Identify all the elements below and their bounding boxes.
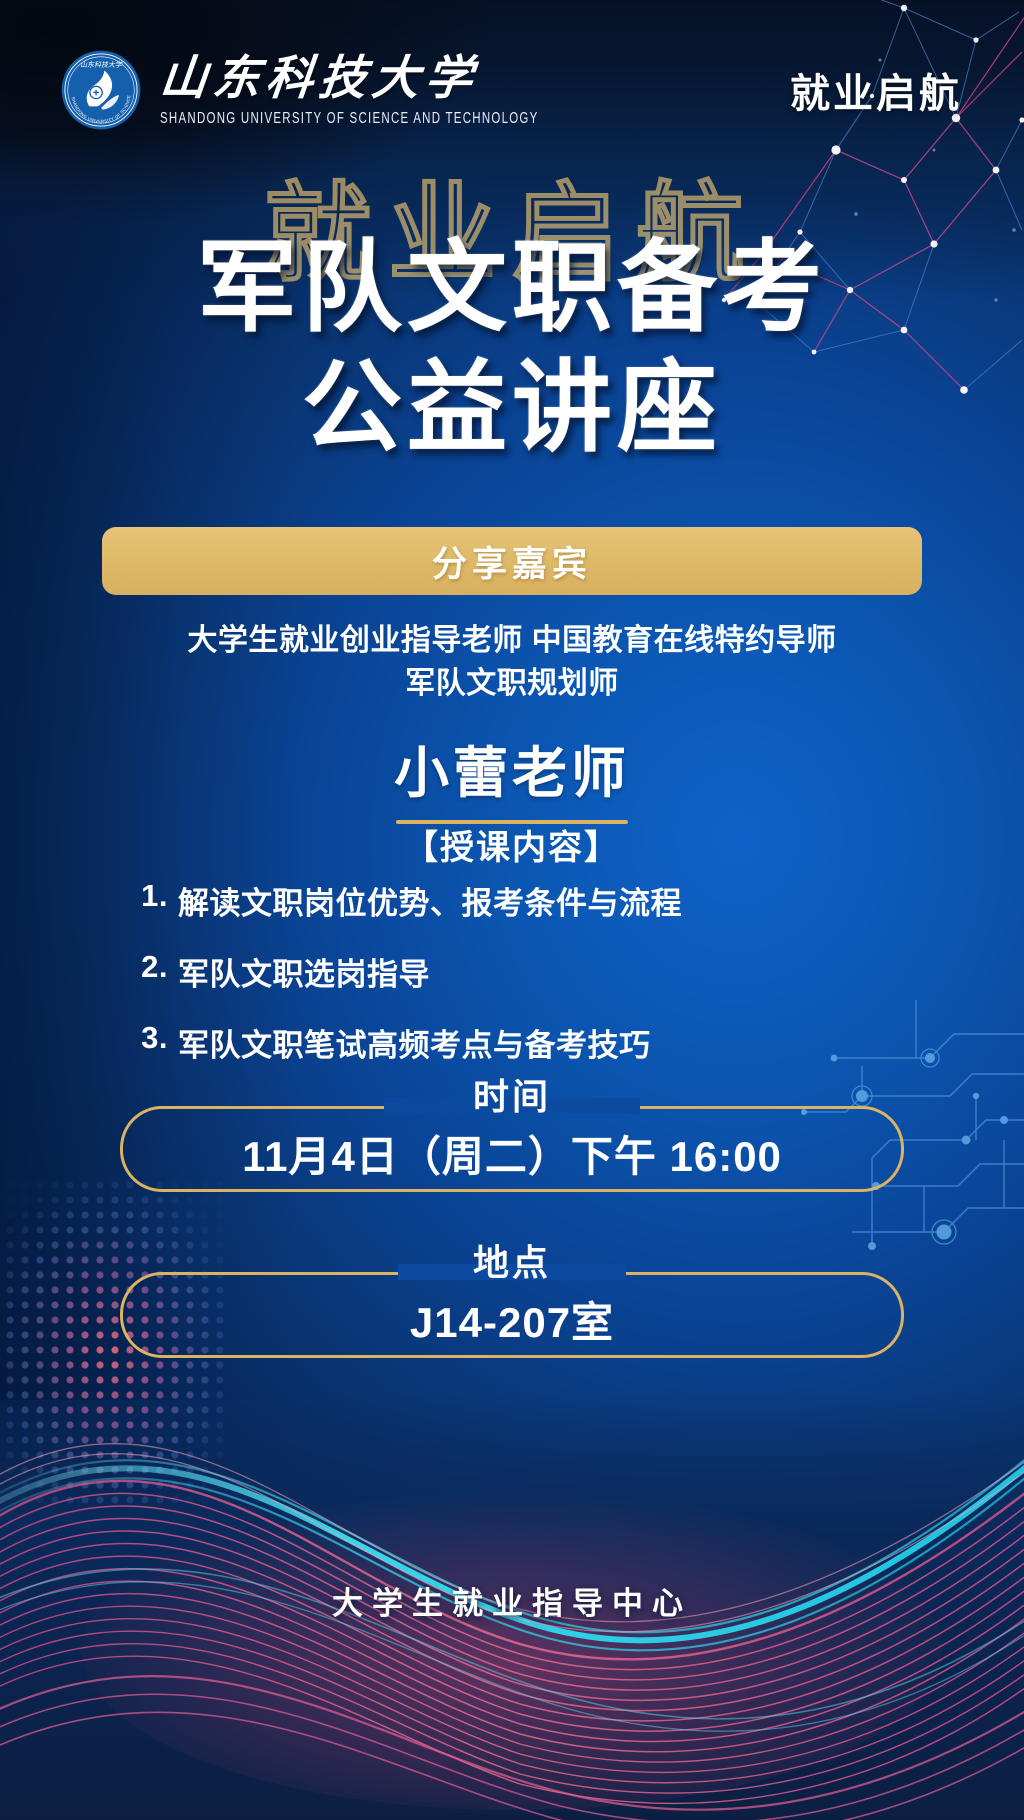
course-item-text: 军队文职选岗指导 bbox=[178, 949, 892, 994]
course-item: 2. 军队文职选岗指导 bbox=[0, 949, 1024, 994]
credential-line-1: 大学生就业创业指导老师 中国教育在线特约导师 bbox=[0, 620, 1024, 663]
poster-root: 山东科技大学 SHANDONG UNIVERSITY OF SCIENCE AN… bbox=[0, 0, 1024, 1820]
university-name-block: 山东科技大学 SHANDONG UNIVERSITY OF SCIENCE AN… bbox=[160, 56, 539, 125]
university-emblem-icon: 山东科技大学 SHANDONG UNIVERSITY OF SCIENCE AN… bbox=[60, 49, 142, 131]
footer-organizer: 大学生就业指导中心 bbox=[0, 1578, 1024, 1623]
place-value: J14-207室 bbox=[410, 1289, 614, 1350]
course-item-text: 解读文职岗位优势、报考条件与流程 bbox=[178, 878, 892, 923]
credential-line-2: 军队文职规划师 bbox=[0, 663, 1024, 706]
time-label: 时间 bbox=[0, 1068, 1024, 1120]
speaker-credentials: 大学生就业创业指导老师 中国教育在线特约导师 军队文职规划师 bbox=[0, 620, 1024, 705]
course-item: 3. 军队文职笔试高频考点与备考技巧 bbox=[0, 1020, 1024, 1065]
course-item-text: 军队文职笔试高频考点与备考技巧 bbox=[178, 1020, 892, 1065]
guest-banner-label: 分享嘉宾 bbox=[432, 536, 592, 587]
title-line-1: 军队文职备考 bbox=[0, 228, 1024, 348]
university-name-en: SHANDONG UNIVERSITY OF SCIENCE AND TECHN… bbox=[160, 110, 539, 126]
title-line-2: 公益讲座 bbox=[0, 348, 1024, 468]
place-label: 地点 bbox=[0, 1234, 1024, 1286]
course-item-number: 1. bbox=[132, 878, 178, 923]
header-slogan: 就业启航 bbox=[790, 61, 962, 119]
speaker-block: 小蕾老师 bbox=[0, 728, 1024, 824]
guest-banner: 分享嘉宾 bbox=[102, 527, 922, 595]
university-name-cn: 山东科技大学 bbox=[158, 56, 541, 103]
course-item-number: 3. bbox=[132, 1020, 178, 1065]
course-content-list: 1. 解读文职岗位优势、报考条件与流程 2. 军队文职选岗指导 3. 军队文职笔… bbox=[0, 878, 1024, 1091]
course-content-heading: 【授课内容】 bbox=[0, 820, 1024, 869]
course-item: 1. 解读文职岗位优势、报考条件与流程 bbox=[0, 878, 1024, 923]
speaker-name: 小蕾老师 bbox=[0, 728, 1024, 808]
svg-text:山东科技大学: 山东科技大学 bbox=[80, 61, 123, 69]
poster-title: 军队文职备考 公益讲座 bbox=[0, 228, 1024, 468]
course-item-number: 2. bbox=[132, 949, 178, 994]
poster-header: 山东科技大学 SHANDONG UNIVERSITY OF SCIENCE AN… bbox=[0, 0, 1024, 180]
university-logo-block: 山东科技大学 SHANDONG UNIVERSITY OF SCIENCE AN… bbox=[60, 49, 539, 131]
time-value: 11月4日（周二）下午 16:00 bbox=[242, 1123, 782, 1184]
